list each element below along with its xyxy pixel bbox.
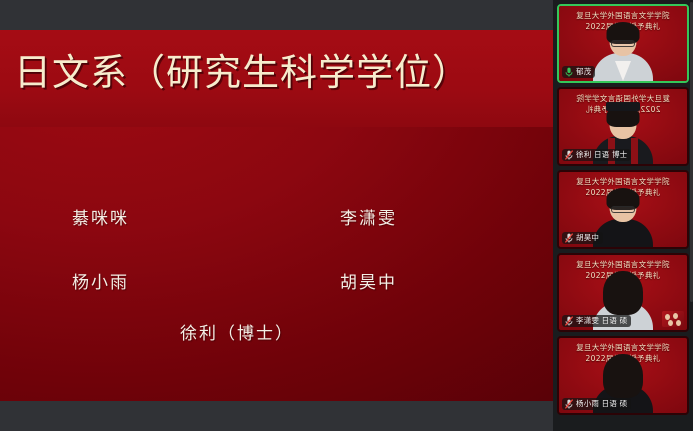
presentation-slide[interactable]: 日文系（研究生科学学位） 綦咪咪 李潇雯 杨小雨 胡昊中 徐利（博士）	[0, 30, 553, 401]
slide-title: 日文系（研究生科学学位）	[14, 52, 470, 93]
mic-muted-icon	[565, 399, 573, 409]
mic-muted-icon	[565, 150, 573, 160]
participant-name-badge: 杨小雨 日语 硕	[562, 398, 631, 410]
participant-video-figure	[590, 25, 656, 81]
participant-tile[interactable]: 复旦大学外国语言文学学院 2022届学位授予典礼	[557, 253, 689, 332]
participant-name: 李潇雯 日语 硕	[576, 315, 627, 327]
meeting-window: 日文系（研究生科学学位） 綦咪咪 李潇雯 杨小雨 胡昊中 徐利（博士）	[0, 0, 693, 431]
slide-body: 綦咪咪 李潇雯 杨小雨 胡昊中 徐利（博士）	[0, 127, 553, 401]
slide-name: 杨小雨	[72, 268, 129, 293]
slide-name: 胡昊中	[340, 268, 397, 293]
self-view-thumbnail[interactable]	[662, 311, 684, 327]
participant-name-badge: 李潇雯 日语 硕	[562, 315, 631, 327]
slide-name: 綦咪咪	[72, 204, 129, 229]
shared-screen-region[interactable]: 日文系（研究生科学学位） 綦咪咪 李潇雯 杨小雨 胡昊中 徐利（博士）	[0, 0, 553, 431]
participant-name-badge: 胡昊中	[562, 232, 603, 244]
mic-muted-icon	[565, 316, 573, 326]
participant-name: 徐利 日语 博士	[576, 149, 627, 161]
slide-name: 李潇雯	[340, 204, 397, 229]
mic-on-icon	[565, 67, 573, 77]
participant-tile[interactable]: 复旦大学外国语言文学学院 2022届学位授予典礼 胡昊中	[557, 170, 689, 249]
participant-name-badge: 郁茂	[562, 66, 595, 78]
participant-name: 杨小雨 日语 硕	[576, 398, 627, 410]
participant-tile[interactable]: 复旦大学外国语言文学学院 2022届学位授予典礼	[557, 87, 689, 166]
mic-muted-icon	[565, 233, 573, 243]
participant-name: 胡昊中	[576, 232, 599, 244]
participant-name-badge: 徐利 日语 博士	[562, 149, 631, 161]
participant-name: 郁茂	[576, 66, 591, 78]
participant-tile[interactable]: 复旦大学外国语言文学学院 2022届学位授予典礼 郁茂	[557, 4, 689, 83]
participant-filmstrip[interactable]: 复旦大学外国语言文学学院 2022届学位授予典礼 郁茂	[553, 0, 693, 431]
participant-tile[interactable]: 复旦大学外国语言文学学院 2022届学位授予典礼 杨小雨 日语 硕	[557, 336, 689, 415]
slide-name: 徐利（博士）	[180, 319, 294, 344]
